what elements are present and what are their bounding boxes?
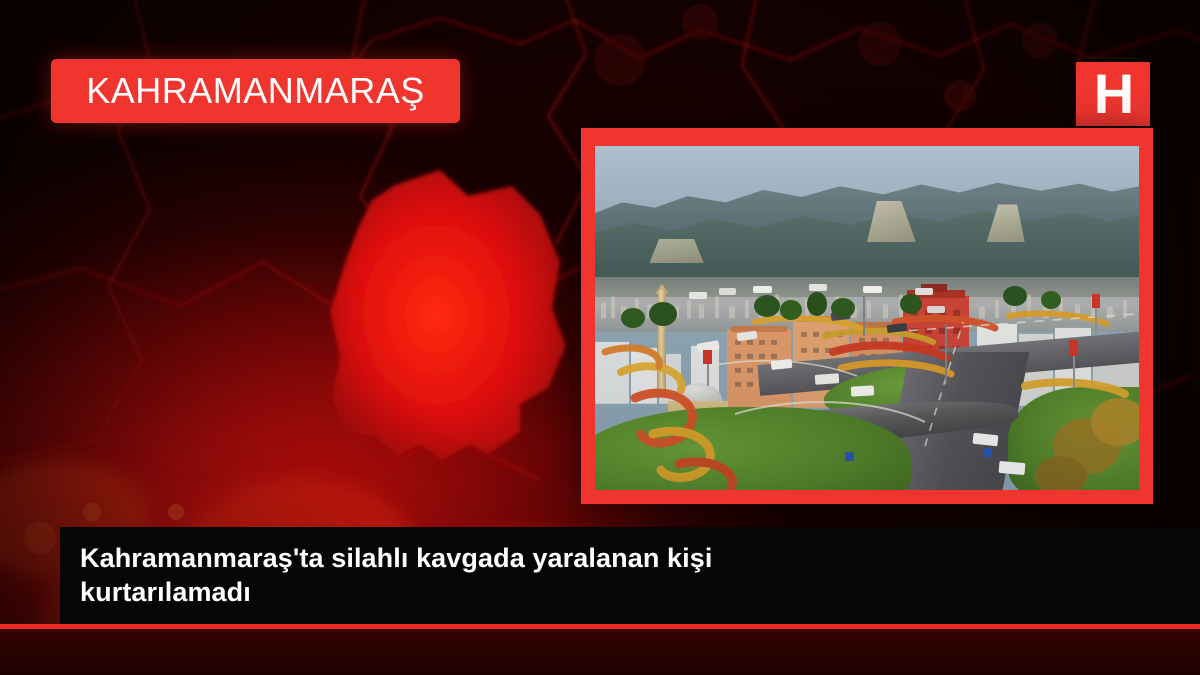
location-badge: KAHRAMANMARAŞ <box>51 59 460 123</box>
photo-frame <box>581 128 1153 504</box>
location-badge-label: KAHRAMANMARAŞ <box>86 70 425 112</box>
photo-tone-overlay <box>595 146 1139 490</box>
caption-bar: Kahramanmaraş'ta silahlı kavgada yaralan… <box>60 527 1200 624</box>
haberler-h-logo: H <box>1076 62 1150 126</box>
headline: Kahramanmaraş'ta silahlı kavgada yaralan… <box>80 542 880 610</box>
bottom-strip <box>0 629 1200 675</box>
logo-glyph: H <box>1094 66 1132 122</box>
news-card: KAHRAMANMARAŞ H <box>0 0 1200 675</box>
city-photo <box>595 146 1139 490</box>
